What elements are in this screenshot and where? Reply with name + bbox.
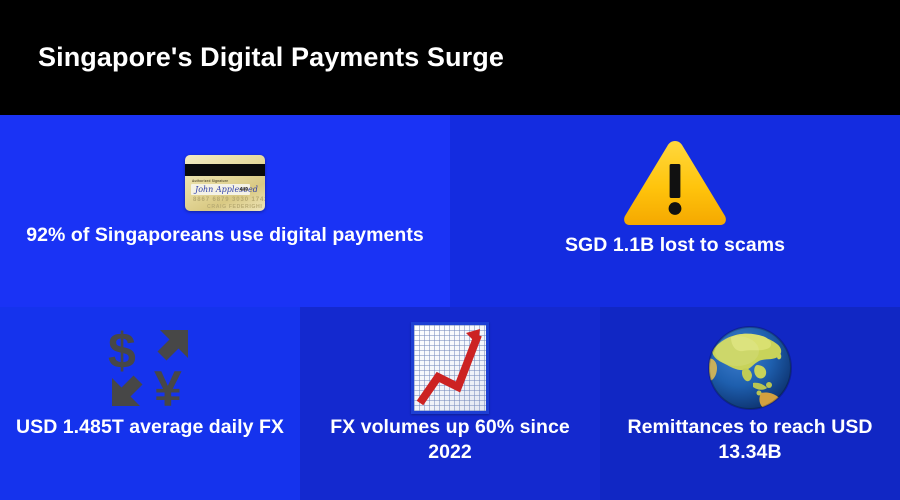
card-holder-name: CRAIG FEDERIGHI (207, 204, 262, 210)
panel-scam-losses[interactable]: SGD 1.1B lost to scams (450, 115, 900, 307)
icon-slot (621, 115, 729, 223)
bottom-row: $ ¥ USD 1.485T average daily FX (0, 307, 900, 500)
card-signature-label: Authorized Signature (192, 179, 228, 183)
top-row: Authorized Signature John Appleseed 449 … (0, 115, 900, 307)
page-title: Singapore's Digital Payments Surge (38, 43, 504, 73)
card-signature-name: John Appleseed (195, 185, 258, 194)
svg-text:$: $ (108, 324, 136, 379)
svg-text:¥: ¥ (154, 361, 182, 412)
card-number: 8867 6879 3030 1742 (193, 197, 265, 203)
infographic-slide: Singapore's Digital Payments Surge Autho… (0, 0, 900, 500)
credit-card-icon: Authorized Signature John Appleseed 449 … (185, 155, 265, 211)
chart-graph-paper (414, 325, 486, 411)
panel-caption: FX volumes up 60% since 2022 (300, 415, 600, 465)
panel-caption: SGD 1.1B lost to scams (551, 233, 799, 258)
icon-slot (411, 307, 489, 415)
panel-caption: USD 1.485T average daily FX (2, 415, 298, 440)
icon-slot (707, 307, 793, 415)
icon-slot: Authorized Signature John Appleseed 449 … (185, 115, 265, 223)
icon-slot: $ ¥ (104, 307, 196, 415)
warning-triangle-icon (621, 137, 729, 229)
panel-digital-payments[interactable]: Authorized Signature John Appleseed 449 … (0, 115, 450, 307)
currency-exchange-icon: $ ¥ (104, 324, 196, 412)
header-band: Singapore's Digital Payments Surge (0, 0, 900, 115)
card-magnetic-stripe (185, 164, 265, 176)
panel-caption: 92% of Singaporeans use digital payments (12, 223, 438, 248)
panel-remittances-forecast[interactable]: Remittances to reach USD 13.34B (600, 307, 900, 500)
card-cvv: 449 (240, 187, 248, 193)
globe-asia-australia-icon (707, 325, 793, 411)
panel-fx-volume-growth[interactable]: FX volumes up 60% since 2022 (300, 307, 600, 500)
panel-average-daily-fx[interactable]: $ ¥ USD 1.485T average daily FX (0, 307, 300, 500)
card-signature-box: John Appleseed 449 (191, 184, 250, 195)
chart-increasing-icon (411, 322, 489, 414)
panel-caption: Remittances to reach USD 13.34B (600, 415, 900, 465)
